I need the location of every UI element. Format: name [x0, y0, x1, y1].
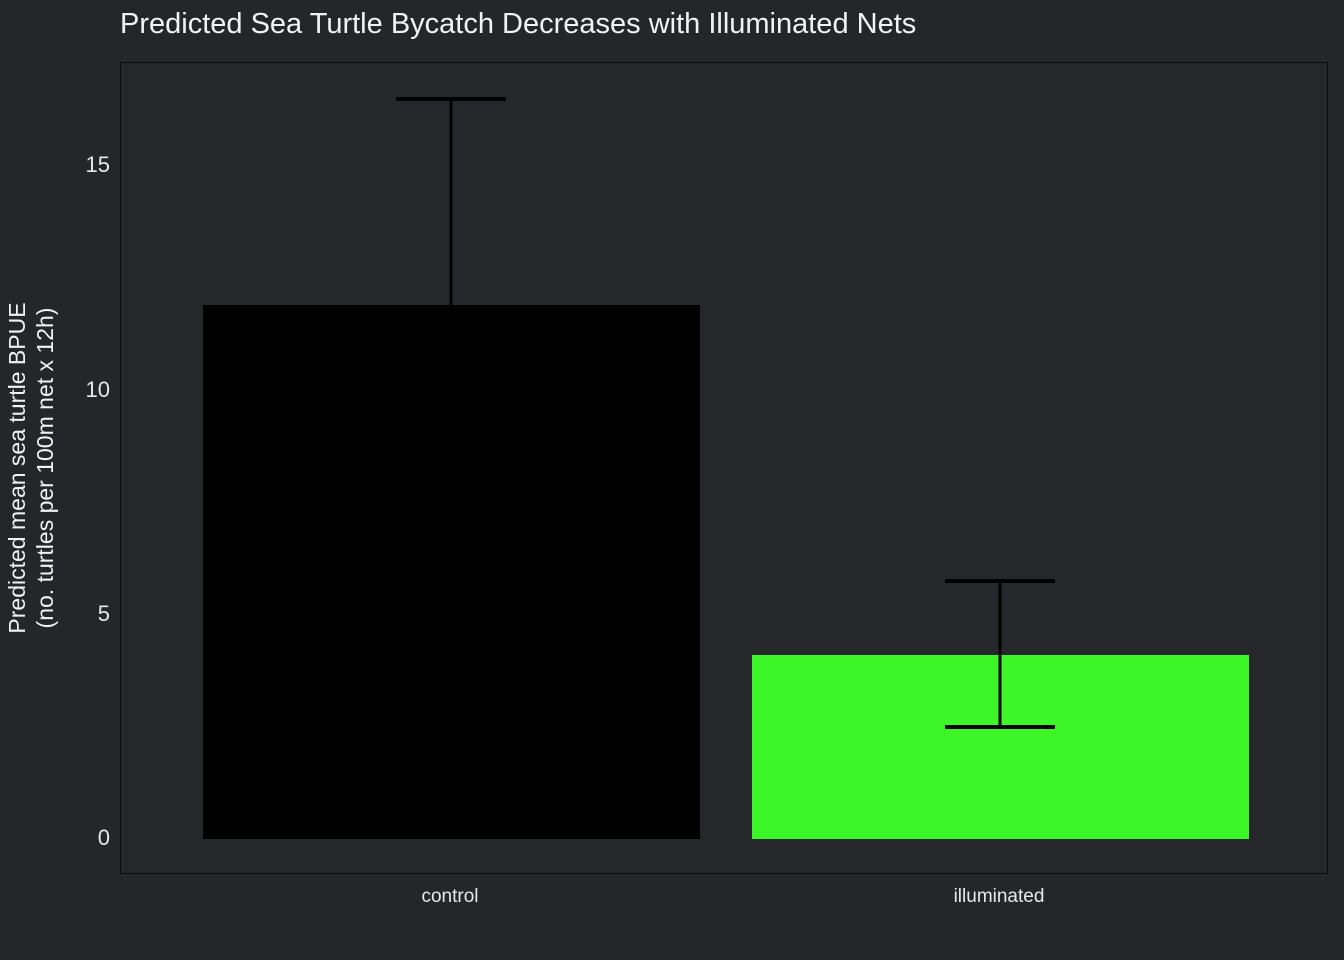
- plot-area: [121, 63, 1327, 873]
- page-title: Predicted Sea Turtle Bycatch Decreases w…: [120, 8, 916, 41]
- error-bar-stem-illuminated: [999, 581, 1002, 727]
- error-bar-cap-upper-illuminated: [945, 579, 1055, 583]
- y-axis-title-line2: (no. turtles per 100m net x 12h): [31, 302, 59, 633]
- y-axis-tick-label: 5: [50, 601, 110, 627]
- x-axis-tick-label: illuminated: [954, 886, 1045, 908]
- y-axis-tick-label: 0: [50, 825, 110, 851]
- chart-canvas: Predicted Sea Turtle Bycatch Decreases w…: [0, 0, 1344, 960]
- error-bar-stem-control: [450, 99, 453, 512]
- plot-panel: [120, 62, 1328, 874]
- error-bar-cap-lower-control: [396, 510, 506, 514]
- y-axis-title-line1: Predicted mean sea turtle BPUE: [3, 302, 31, 633]
- y-axis-title: Predicted mean sea turtle BPUE (no. turt…: [0, 62, 62, 874]
- error-bar-cap-upper-control: [396, 97, 506, 101]
- y-axis-tick-label: 15: [50, 152, 110, 178]
- error-bar-cap-lower-illuminated: [945, 725, 1055, 729]
- x-axis-tick-label: control: [421, 886, 478, 908]
- y-axis-tick-label: 10: [50, 377, 110, 403]
